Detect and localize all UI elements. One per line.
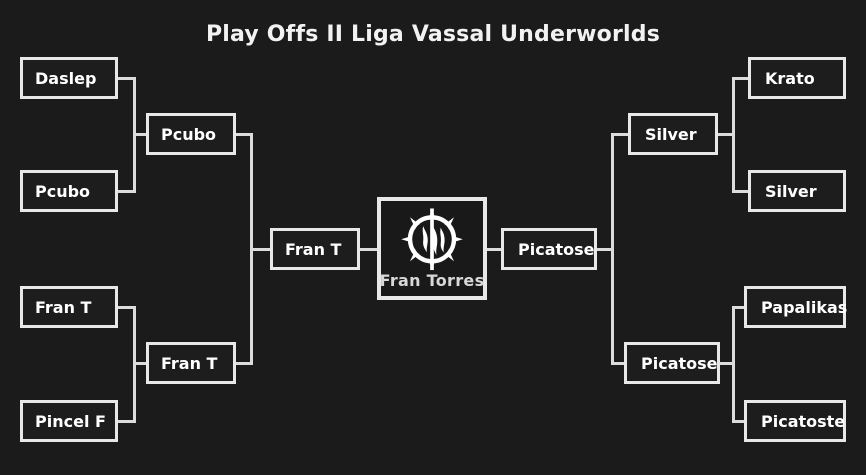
match-node-right-r1-1[interactable]: Krato <box>748 57 846 99</box>
match-node-left-r1-4[interactable]: Pincel F <box>20 400 118 442</box>
team-label: Pcubo <box>35 182 90 201</box>
match-node-left-r1-1[interactable]: Daslep <box>20 57 118 99</box>
team-label: Silver <box>765 182 817 201</box>
champion-name: Fran Torres <box>380 271 485 290</box>
bracket-canvas: Play Offs II Liga Vassal Underworlds Das… <box>0 0 866 475</box>
team-label: Picatoste <box>761 412 845 431</box>
team-label: Pincel F <box>35 412 106 431</box>
team-label: Daslep <box>35 69 96 88</box>
match-node-right-r1-3[interactable]: Papalikas <box>744 286 846 328</box>
team-label: Picatose <box>641 354 718 373</box>
connector-left-final-to-champion <box>357 248 379 251</box>
match-node-right-r1-4[interactable]: Picatoste <box>744 400 846 442</box>
flame-crosshair-emblem-icon <box>394 207 470 273</box>
match-node-right-sf-1[interactable]: Silver <box>628 113 718 155</box>
team-label: Picatose <box>518 240 595 259</box>
connector-right-to-sf-top <box>716 133 735 136</box>
match-node-right-sf-2[interactable]: Picatose <box>624 342 720 384</box>
match-node-left-final[interactable]: Fran T <box>270 228 360 270</box>
team-label: Papalikas <box>761 298 847 317</box>
team-label: Fran T <box>161 354 217 373</box>
champion-node[interactable]: Fran Torres <box>377 197 487 300</box>
team-label: Fran T <box>285 240 341 259</box>
team-label: Fran T <box>35 298 91 317</box>
team-label: Silver <box>645 125 697 144</box>
match-node-left-sf-1[interactable]: Pcubo <box>146 113 236 155</box>
team-label: Pcubo <box>161 125 216 144</box>
team-label: Krato <box>765 69 815 88</box>
match-node-right-final[interactable]: Picatose <box>501 228 597 270</box>
page-title: Play Offs II Liga Vassal Underworlds <box>0 22 866 47</box>
match-node-left-r1-3[interactable]: Fran T <box>20 286 118 328</box>
match-node-left-sf-2[interactable]: Fran T <box>146 342 236 384</box>
match-node-left-r1-2[interactable]: Pcubo <box>20 170 118 212</box>
connector-left-to-final <box>250 248 272 251</box>
match-node-right-r1-2[interactable]: Silver <box>748 170 846 212</box>
